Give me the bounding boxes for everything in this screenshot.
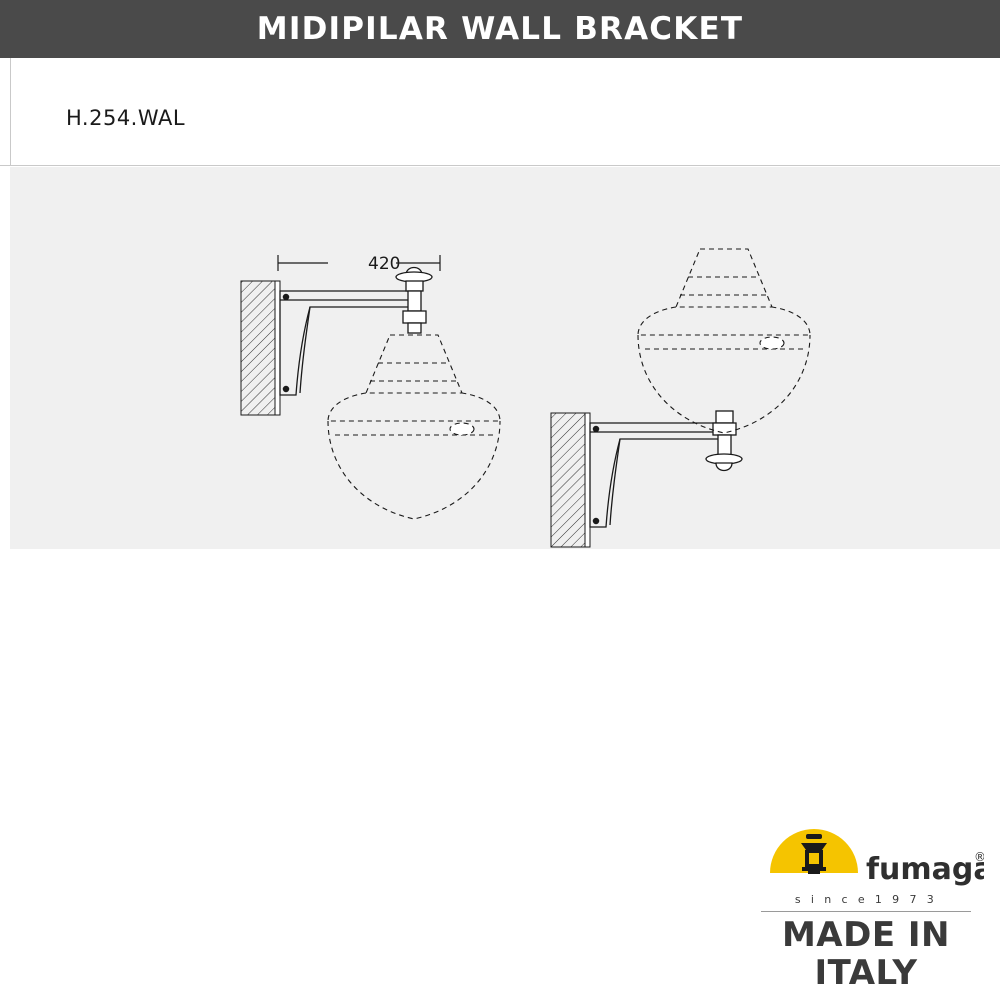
lantern-dashed-outline-icon — [638, 249, 810, 433]
brand-tagline: s i n c e 1 9 7 3 — [748, 893, 984, 906]
technical-drawing-svg: 420 — [10, 167, 1000, 549]
brand-logo-badge: fumagalli ® — [748, 817, 984, 891]
lantern-dashed-outline-icon — [328, 335, 500, 519]
wall-hatch-icon — [241, 281, 280, 415]
product-code-row: H.254.WAL — [0, 58, 1000, 166]
logo-divider — [761, 911, 971, 912]
technical-drawing-panel: 420 — [10, 167, 1000, 549]
product-code: H.254.WAL — [66, 106, 185, 130]
header-bar: MIDIPILAR WALL BRACKET — [0, 0, 1000, 58]
brand-logo-svg: fumagalli ® — [748, 817, 984, 891]
divider-vertical — [10, 58, 11, 166]
brand-logo-block: fumagalli ® s i n c e 1 9 7 3 MADE IN IT… — [748, 817, 984, 992]
made-in-line-2: ITALY — [748, 954, 984, 992]
made-in-line-1: MADE IN — [748, 916, 984, 954]
product-photo-area: fumagalli ® s i n c e 1 9 7 3 MADE IN IT… — [0, 549, 1000, 1000]
wall-hatch-icon — [551, 413, 590, 547]
registered-mark: ® — [974, 850, 984, 864]
drawing-left-assembly — [241, 255, 500, 519]
bracket-outline-icon — [280, 291, 414, 395]
dimension-label-420: 420 — [368, 254, 400, 274]
drawing-right-assembly — [551, 249, 810, 547]
lantern-bottom-cap-icon — [706, 411, 742, 471]
brand-wordmark: fumagalli — [866, 852, 984, 887]
page-title: MIDIPILAR WALL BRACKET — [257, 11, 743, 47]
bracket-outline-icon — [590, 423, 724, 527]
